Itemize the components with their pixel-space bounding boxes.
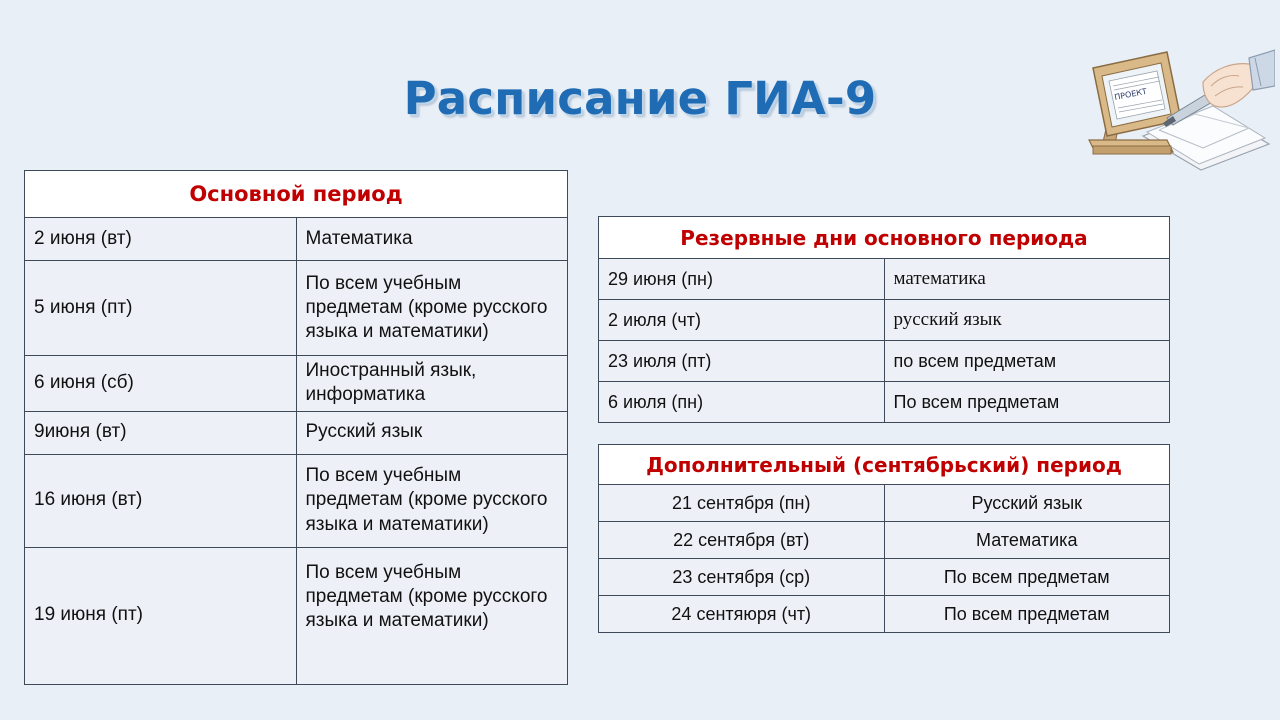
exam-date: 23 июля (пт) xyxy=(599,341,885,382)
table-row: 29 июня (пн) математика xyxy=(599,259,1170,300)
main-period-header: Основной период xyxy=(25,171,568,218)
exam-subject: По всем учебным предметам (кроме русског… xyxy=(296,261,568,356)
table-row: 9июня (вт) Русский язык xyxy=(25,411,568,454)
exam-date: 21 сентября (пн) xyxy=(599,485,885,522)
additional-period-header: Дополнительный (сентябрьский) период xyxy=(599,445,1170,485)
table-row: 23 сентября (ср) По всем предметам xyxy=(599,559,1170,596)
additional-period-table: Дополнительный (сентябрьский) период 21 … xyxy=(598,444,1170,633)
exam-subject: По всем учебным предметам (кроме русског… xyxy=(296,454,568,547)
table-header-row: Дополнительный (сентябрьский) период xyxy=(599,445,1170,485)
exam-date: 22 сентября (вт) xyxy=(599,522,885,559)
table-row: 16 июня (вт) По всем учебным предметам (… xyxy=(25,454,568,547)
table-row: 5 июня (пт) По всем учебным предметам (к… xyxy=(25,261,568,356)
table-row: 23 июля (пт) по всем предметам xyxy=(599,341,1170,382)
table-row: 19 июня (пт) По всем учебным предметам (… xyxy=(25,547,568,684)
exam-date: 5 июня (пт) xyxy=(25,261,297,356)
table-header-row: Резервные дни основного периода xyxy=(599,217,1170,259)
table-row: 6 июня (сб) Иностранный язык, информатик… xyxy=(25,356,568,412)
table-row: 2 июля (чт) русский язык xyxy=(599,300,1170,341)
reserve-days-header: Резервные дни основного периода xyxy=(599,217,1170,259)
table-header-row: Основной период xyxy=(25,171,568,218)
table-row: 2 июня (вт) Математика xyxy=(25,218,568,261)
exam-subject: По всем учебным предметам (кроме русског… xyxy=(296,547,568,684)
exam-date: 19 июня (пт) xyxy=(25,547,297,684)
exam-subject: Русский язык xyxy=(884,485,1170,522)
exam-date: 16 июня (вт) xyxy=(25,454,297,547)
exam-subject: русский язык xyxy=(884,300,1170,341)
table-row: 21 сентября (пн) Русский язык xyxy=(599,485,1170,522)
main-period-table: Основной период 2 июня (вт) Математика 5… xyxy=(24,170,568,685)
exam-date: 6 июля (пн) xyxy=(599,382,885,423)
exam-date: 29 июня (пн) xyxy=(599,259,885,300)
exam-subject: математика xyxy=(884,259,1170,300)
exam-subject: Иностранный язык, информатика xyxy=(296,356,568,412)
exam-subject: Русский язык xyxy=(296,411,568,454)
exam-date: 24 сентяюря (чт) xyxy=(599,596,885,633)
exam-date: 6 июня (сб) xyxy=(25,356,297,412)
table-row: 22 сентября (вт) Математика xyxy=(599,522,1170,559)
exam-date: 2 июня (вт) xyxy=(25,218,297,261)
exam-subject: по всем предметам xyxy=(884,341,1170,382)
exam-subject: По всем предметам xyxy=(884,382,1170,423)
table-row: 6 июля (пн) По всем предметам xyxy=(599,382,1170,423)
document-easel-icon: ПРОЕКТ xyxy=(1063,24,1275,174)
exam-subject: Математика xyxy=(884,522,1170,559)
exam-subject: Математика xyxy=(296,218,568,261)
exam-subject: По всем предметам xyxy=(884,559,1170,596)
exam-date: 9июня (вт) xyxy=(25,411,297,454)
exam-date: 23 сентября (ср) xyxy=(599,559,885,596)
document-easel-illustration: ПРОЕКТ xyxy=(1063,24,1275,174)
exam-subject: По всем предметам xyxy=(884,596,1170,633)
table-row: 24 сентяюря (чт) По всем предметам xyxy=(599,596,1170,633)
exam-date: 2 июля (чт) xyxy=(599,300,885,341)
reserve-days-table: Резервные дни основного периода 29 июня … xyxy=(598,216,1170,423)
